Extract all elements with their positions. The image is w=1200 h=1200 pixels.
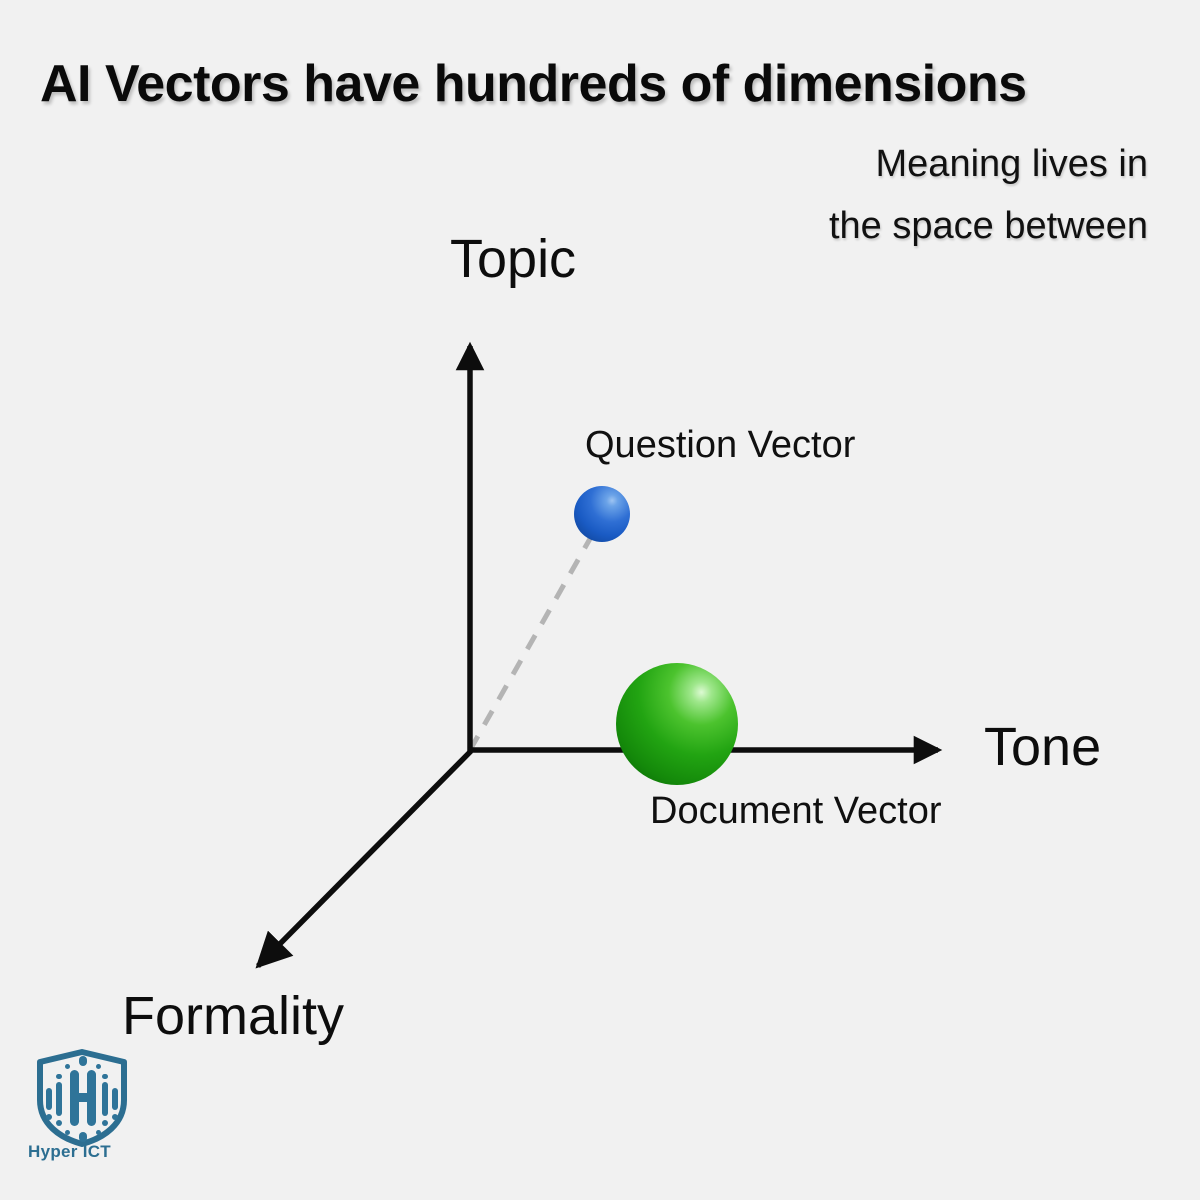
document-vector-point[interactable] <box>616 663 738 785</box>
axis-label-formality: Formality <box>122 985 344 1047</box>
question-vector-connector <box>470 537 591 750</box>
axis-label-topic: Topic <box>450 228 576 290</box>
point-label-document-vector: Document Vector <box>650 790 941 833</box>
axis-label-tone: Tone <box>984 716 1101 778</box>
point-label-question-vector: Question Vector <box>585 424 855 467</box>
logo-text: Hyper ICT <box>28 1142 111 1162</box>
formality-axis-line <box>258 751 471 966</box>
question-vector-point[interactable] <box>574 486 630 542</box>
